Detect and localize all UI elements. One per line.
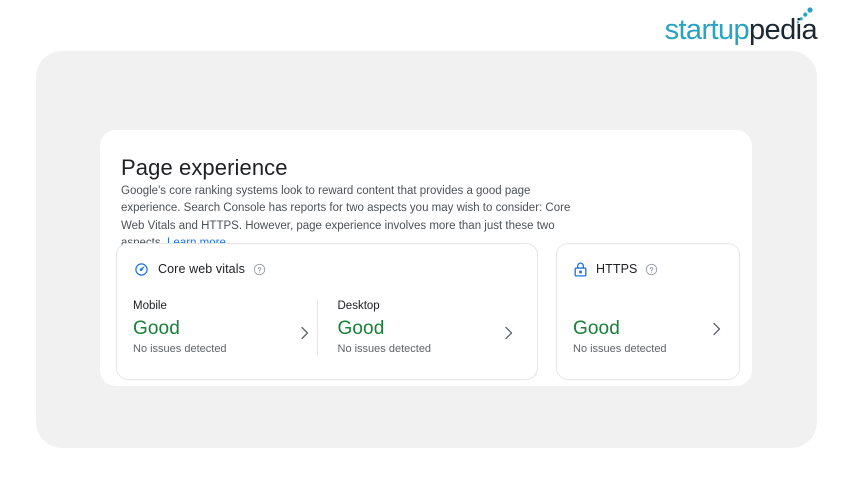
https-metrics: Good No issues detected: [573, 318, 723, 355]
metric-mobile-detail: No issues detected: [133, 343, 303, 355]
metric-https[interactable]: Good No issues detected: [573, 318, 723, 355]
core-web-vitals-metrics: Mobile Good No issues detected Desktop G…: [133, 300, 521, 355]
metric-https-status: Good: [573, 318, 713, 340]
core-web-vitals-title: Core web vitals: [158, 262, 245, 276]
metric-https-detail: No issues detected: [573, 343, 713, 355]
help-circle-icon[interactable]: [645, 263, 658, 276]
chevron-right-icon[interactable]: [503, 326, 515, 340]
brand-logo: startup pedia: [665, 16, 817, 45]
cards-row: Core web vitals Mobile Good No issues de…: [116, 243, 740, 380]
brand-name-start: startup: [665, 16, 749, 45]
metric-mobile-device: Mobile: [133, 300, 303, 312]
metric-desktop-device: Desktop: [338, 300, 508, 312]
metric-mobile[interactable]: Mobile Good No issues detected: [133, 300, 317, 355]
page-title: Page experience: [121, 155, 288, 181]
https-title: HTTPS: [596, 262, 637, 276]
https-card[interactable]: HTTPS Good No issues detected: [556, 243, 740, 380]
rocket-trail-icon: [793, 6, 815, 28]
help-circle-icon[interactable]: [253, 263, 266, 276]
metric-desktop[interactable]: Desktop Good No issues detected: [317, 300, 522, 355]
metric-desktop-detail: No issues detected: [338, 343, 508, 355]
https-card-header: HTTPS: [573, 260, 723, 278]
metric-desktop-status: Good: [338, 318, 508, 340]
speedometer-icon: [133, 261, 150, 278]
lock-icon: [573, 261, 588, 278]
page-experience-panel: Page experience Google's core ranking sy…: [100, 130, 752, 386]
chevron-right-icon[interactable]: [299, 326, 311, 340]
page-description: Google's core ranking systems look to re…: [121, 183, 581, 253]
chevron-right-icon[interactable]: [711, 322, 723, 336]
metric-mobile-status: Good: [133, 318, 303, 340]
core-web-vitals-card[interactable]: Core web vitals Mobile Good No issues de…: [116, 243, 538, 380]
core-web-vitals-card-header: Core web vitals: [133, 260, 521, 278]
